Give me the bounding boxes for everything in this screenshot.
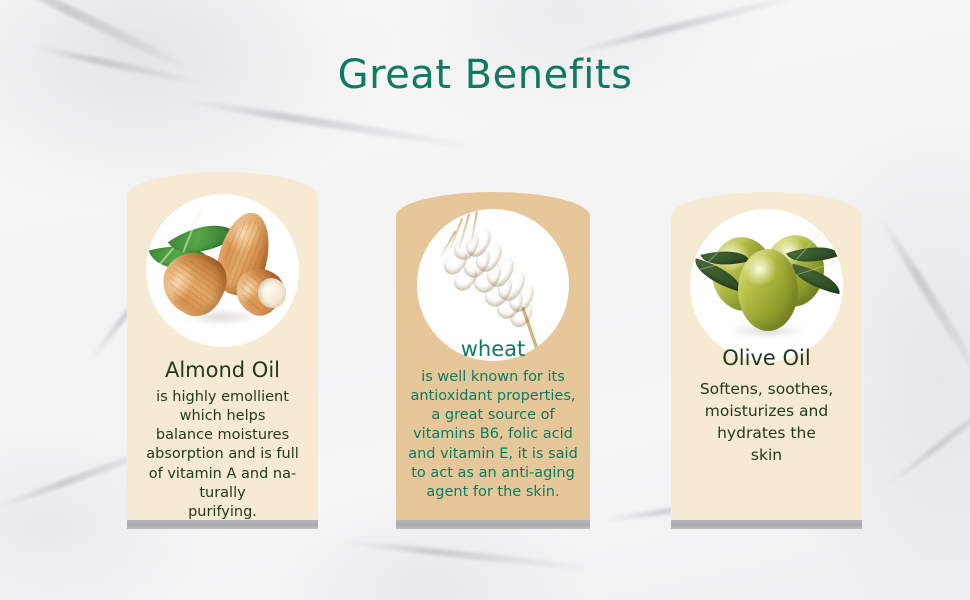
benefit-card-wheat: wheat is well known for its antioxidant … xyxy=(396,192,590,528)
marble-vein xyxy=(340,538,599,572)
card-body-wheat: is well known for its antioxidant proper… xyxy=(396,368,590,502)
marble-vein xyxy=(886,378,970,487)
card-body-almond-oil: is highly emollient which helps balance … xyxy=(127,388,318,522)
card-body-olive-oil: Softens, soothes, moisturizes and hydrat… xyxy=(671,378,862,466)
card-image-olive-oil xyxy=(690,209,843,362)
card-base-bar xyxy=(127,520,318,529)
card-surface: Olive Oil Softens, soothes, moisturizes … xyxy=(671,192,862,528)
marble-vein xyxy=(181,97,479,152)
card-title-almond-oil: Almond Oil xyxy=(127,359,318,382)
card-image-almond-oil xyxy=(146,194,299,347)
card-title-olive-oil: Olive Oil xyxy=(671,347,862,370)
card-surface: wheat is well known for its antioxidant … xyxy=(396,192,590,528)
olive-fruit-icon xyxy=(738,249,798,331)
page-title: Great Benefits xyxy=(0,52,970,98)
card-base-bar xyxy=(671,520,862,529)
marble-vein xyxy=(563,0,817,58)
card-surface: Almond Oil is highly emollient which hel… xyxy=(127,172,318,528)
marble-vein xyxy=(876,213,970,396)
card-base-bar xyxy=(396,520,590,529)
benefit-card-almond-oil: Almond Oil is highly emollient which hel… xyxy=(127,172,318,528)
benefit-card-olive-oil: Olive Oil Softens, soothes, moisturizes … xyxy=(671,192,862,528)
page-background: Great Benefits Almond Oil is highly emol… xyxy=(0,0,970,600)
card-title-wheat: wheat xyxy=(396,338,590,361)
